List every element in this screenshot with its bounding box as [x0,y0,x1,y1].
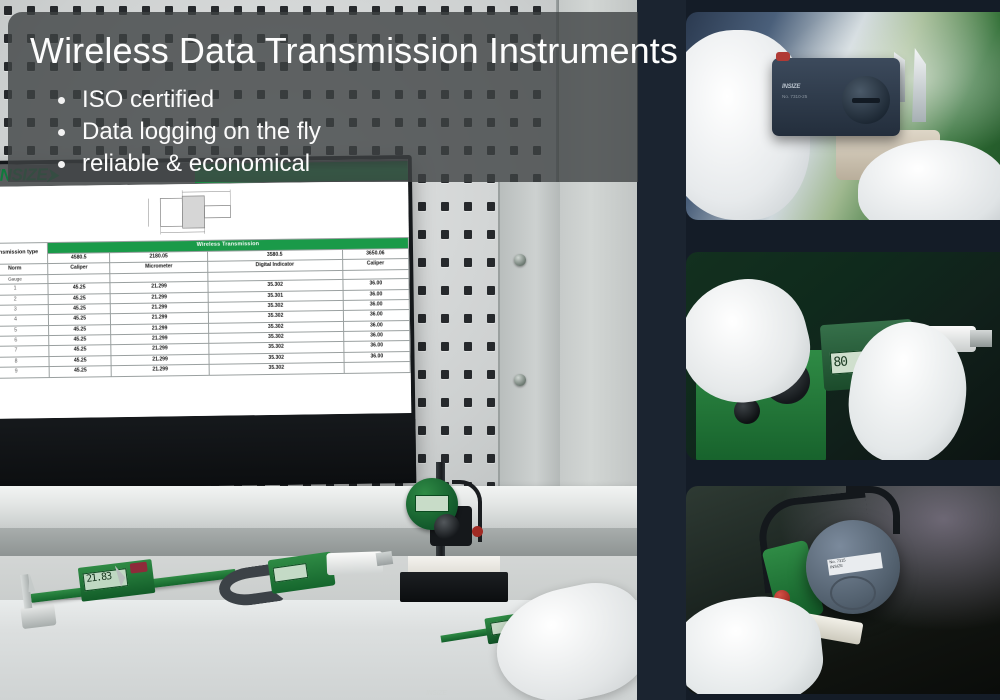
micrometer-lcd [273,563,309,583]
photo1-caliper-dial [842,76,890,124]
pegboard-hole [487,202,495,211]
photo1-dial-slot [852,98,880,103]
table-row-index: 9 [0,367,49,378]
pegboard-hole [441,398,449,407]
measurement-results-table: Transmission typeWireless Transmission45… [0,237,411,379]
micrometer-barrel [326,551,383,575]
photo1-instrument-brand: INSIZE [782,84,800,90]
photo1-instrument-code: No. 7310-25 [782,94,807,99]
pegboard-hole [418,258,426,267]
feature-bullet: Data logging on the fly [54,116,321,148]
feature-bullet: ISO certified [54,84,321,116]
photo1-caliper-body: INSIZE No. 7310-25 [772,58,900,136]
pegboard-hole [464,286,472,295]
screw-icon [514,254,526,266]
stand-red-button [472,526,483,537]
monitor-bezel-bottom [0,419,416,489]
page-title: Wireless Data Transmission Instruments [30,30,630,72]
pegboard-hole [441,230,449,239]
photo1-caliper-button [776,52,790,61]
pegboard-hole [464,342,472,351]
pegboard-hole [418,370,426,379]
table-cell: 45.25 [49,366,112,377]
pegboard-hole [487,426,495,435]
indicator-lcd [415,495,449,512]
pegboard-hole [441,202,449,211]
photo3-label-plate: No. 7315 INSIZE [827,552,883,575]
pegboard-hole [441,342,449,351]
micrometer-body [268,551,336,594]
pegboard-hole [487,398,495,407]
photo-digital-micrometer-on-stand: 80 [686,252,1000,460]
photo-wireless-transmitter-module: No. 7315 INSIZE [686,486,1000,694]
table-corner-header: Transmission type [0,243,48,265]
feature-bullet-list: ISO certifiedData logging on the flyreli… [54,84,321,180]
monitor-screen: ⮜INSIZE⮞ [0,159,411,419]
technical-drawing [126,187,259,237]
photo3-body-recess [830,576,876,610]
pegboard-hole [464,398,472,407]
pegboard-hole [464,202,472,211]
stand-base: INSIZE [400,572,508,602]
pegboard-hole [464,370,472,379]
caliper-slider-body: 21.83 [78,559,156,602]
pegboard-hole [487,370,495,379]
pegboard-hole [441,258,449,267]
photo2-micrometer-thimble [970,330,992,347]
pegboard-hole [418,398,426,407]
micrometer-thimble [376,551,394,566]
pegboard-hole [487,286,495,295]
pegboard-hole [441,370,449,379]
computer-monitor: ⮜INSIZE⮞ [0,155,416,489]
pegboard-hole [418,230,426,239]
screw-icon [514,374,526,386]
pegboard-hole [418,286,426,295]
pegboard-hole [464,314,472,323]
pegboard-hole [418,342,426,351]
pegboard-hole [487,230,495,239]
photo-digital-caliper-measuring: INSIZE No. 7310-25 [686,12,1000,220]
dial-indicator-stand: INSIZE [400,462,518,610]
pegboard-hole [418,202,426,211]
feature-bullet: reliable & economical [54,148,321,180]
pegboard-hole [441,426,449,435]
pegboard-hole [441,314,449,323]
table-cell [344,362,411,373]
pegboard-hole [464,258,472,267]
photo-column: INSIZE No. 7310-25 80 [686,0,1000,700]
upper-bench-surface [0,486,638,528]
pegboard-hole [487,314,495,323]
table-cell: 35.302 [209,363,344,375]
headline-overlay-panel: Wireless Data Transmission Instruments I… [8,12,638,182]
caliper-fixed-jaw [20,574,32,609]
pegboard-hole [418,426,426,435]
pegboard-hole [487,258,495,267]
stand-adjust-knob [434,514,460,540]
photo3-transmitter-body: No. 7315 INSIZE [806,520,900,614]
caliper-button [130,562,148,574]
vertical-separator-band [637,0,686,700]
stand-logo: INSIZE [426,690,447,697]
pegboard-hole [487,342,495,351]
pegboard-hole [464,230,472,239]
pegboard-hole [418,314,426,323]
software-workarea: Transmission typeWireless Transmission45… [0,181,411,419]
pegboard-hole [4,6,12,15]
pegboard-hole [464,426,472,435]
slide-root: ⮜INSIZE⮞ [0,0,1000,700]
caliper-jaw-tip [26,573,35,592]
pegboard-hole [441,286,449,295]
table-cell: 21.299 [112,365,209,377]
